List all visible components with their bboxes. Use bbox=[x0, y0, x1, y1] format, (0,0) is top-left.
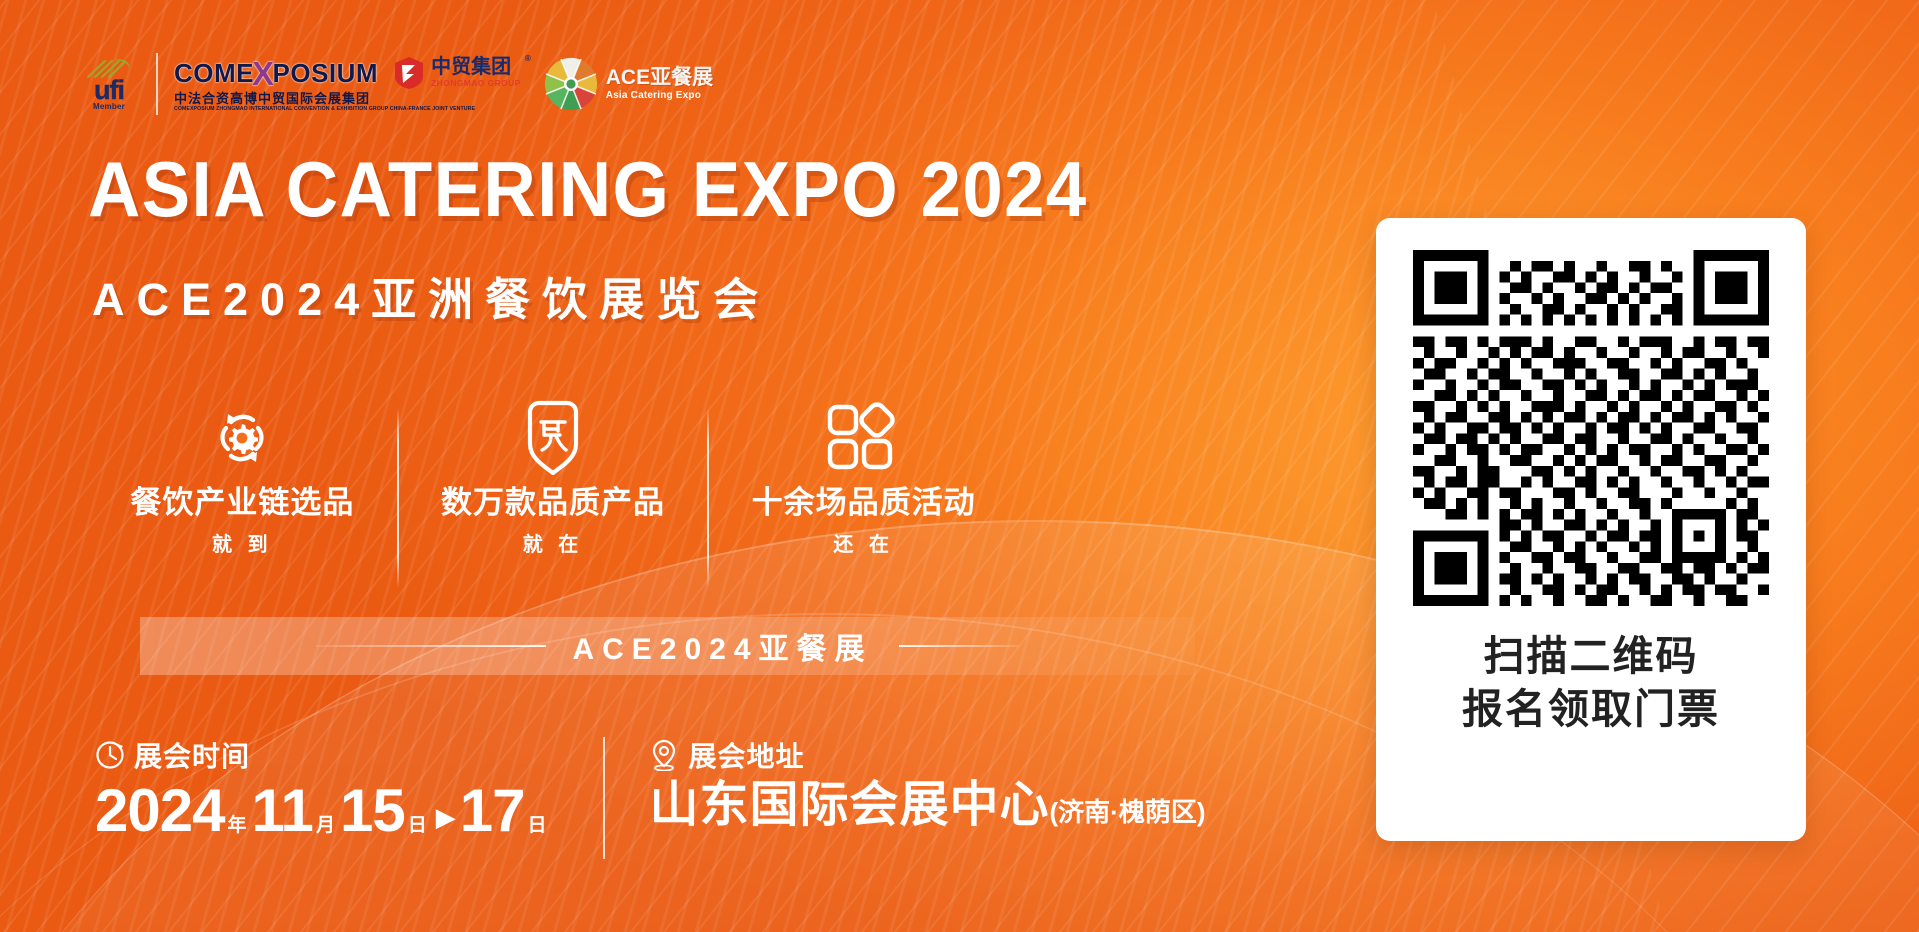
event-venue-value: 山东国际会展中心(济南·槐荫区) bbox=[649, 781, 1205, 830]
event-venue-label: 展会地址 bbox=[688, 735, 804, 775]
venue-name: 山东国际会展中心 bbox=[649, 778, 1049, 832]
comexposium-x-glyph: X bbox=[252, 57, 275, 90]
qr-card[interactable]: 扫描二维码 报名领取门票 bbox=[1376, 218, 1806, 841]
ufi-logo: ufi Member bbox=[78, 57, 140, 111]
ace-logo: ACE亚餐展 Asia Catering Expo bbox=[543, 56, 713, 112]
feature-subtitle: 还 在 bbox=[833, 528, 894, 557]
event-info: 展会时间 2024 年 11 月 15 日 ▶ 17 日 bbox=[95, 735, 1205, 859]
zhongmao-logo: 中贸集团 ® ZHONGMAO GROUP bbox=[392, 56, 521, 90]
comexposium-word-left: COME bbox=[174, 60, 254, 86]
comexposium-cn-subtitle: 中法合资高博中贸国际会展集团 bbox=[174, 92, 521, 106]
date-month-unit: 月 bbox=[316, 810, 335, 841]
date-range-arrow: ▶ bbox=[436, 802, 456, 833]
gear-cycle-icon bbox=[204, 400, 280, 476]
promo-banner: ufi Member COME X POSIUM 中贸 bbox=[0, 0, 1919, 932]
zhongmao-cn: 中贸集团 ® bbox=[431, 57, 521, 77]
quality-shield-icon bbox=[520, 400, 586, 476]
logo-divider bbox=[156, 53, 158, 115]
date-month: 11 bbox=[252, 781, 313, 841]
feature-item-quality-events: 十余场品质活动 还 在 bbox=[709, 400, 1018, 557]
date-day-start-unit: 日 bbox=[408, 810, 427, 841]
feature-title: 数万款品质产品 bbox=[441, 486, 665, 520]
feature-subtitle: 就 在 bbox=[523, 528, 584, 557]
qr-caption: 扫描二维码 报名领取门票 bbox=[1462, 630, 1720, 737]
info-divider bbox=[603, 737, 605, 859]
main-title-english: ASIA CATERING EXPO 2024 bbox=[88, 150, 1088, 228]
qr-caption-line2: 报名领取门票 bbox=[1462, 683, 1720, 736]
ace-logo-en: Asia Catering Expo bbox=[606, 91, 713, 101]
comexposium-word-right: POSIUM bbox=[273, 60, 379, 86]
date-year-unit: 年 bbox=[227, 810, 246, 841]
feature-title: 餐饮产业链选品 bbox=[130, 486, 354, 520]
feature-item-quality-products: 数万款品质产品 就 在 bbox=[399, 400, 708, 557]
event-venue-block: 展会地址 山东国际会展中心(济南·槐荫区) bbox=[649, 735, 1205, 830]
comexposium-row: COME X POSIUM 中贸集团 ® ZHONGMAO GROUP bbox=[174, 56, 521, 90]
comexposium-en-subtitle: COMEXPOSIUM ZHONGMAO INTERNATIONAL CONVE… bbox=[174, 107, 521, 112]
ufi-member-label: Member bbox=[93, 102, 125, 111]
event-date-header: 展会时间 bbox=[95, 735, 551, 775]
ace-logo-text: ACE亚餐展 Asia Catering Expo bbox=[606, 67, 713, 101]
tagline-strip: ACE2024亚餐展 bbox=[140, 617, 1195, 675]
feature-subtitle: 就 到 bbox=[212, 528, 273, 557]
event-date-label: 展会时间 bbox=[134, 735, 250, 775]
strip-text: ACE2024亚餐展 bbox=[572, 624, 872, 668]
venue-district: (济南·槐荫区) bbox=[1050, 797, 1206, 827]
qr-caption-line1: 扫描二维码 bbox=[1462, 630, 1720, 683]
strip-rule-right bbox=[899, 645, 1019, 647]
zhongmao-reg-mark: ® bbox=[525, 55, 531, 63]
four-blocks-icon bbox=[824, 400, 904, 476]
feature-item-supply-chain: 餐饮产业链选品 就 到 bbox=[88, 400, 397, 557]
feature-list: 餐饮产业链选品 就 到 数万款 bbox=[88, 400, 1018, 590]
zhongmao-cn-text: 中贸集团 bbox=[431, 56, 511, 78]
ace-logo-cn: ACE亚餐展 bbox=[606, 67, 713, 88]
date-day-end: 17 bbox=[460, 781, 525, 841]
logo-bar: ufi Member COME X POSIUM 中贸 bbox=[78, 46, 713, 122]
date-day-end-unit: 日 bbox=[527, 810, 546, 841]
event-venue-header: 展会地址 bbox=[649, 735, 1205, 775]
ace-pinwheel-icon bbox=[543, 56, 599, 112]
date-day-start: 15 bbox=[340, 781, 405, 841]
strip-rule-left bbox=[316, 645, 546, 647]
ufi-wordmark: ufi bbox=[94, 79, 124, 102]
event-date-value: 2024 年 11 月 15 日 ▶ 17 日 bbox=[95, 781, 551, 841]
feature-title: 十余场品质活动 bbox=[752, 486, 976, 520]
date-year: 2024 bbox=[95, 781, 224, 841]
zhongmao-mark-icon bbox=[392, 56, 426, 90]
comexposium-logo: COME X POSIUM 中贸集团 ® ZHONGMAO GROUP bbox=[174, 56, 521, 113]
main-title-chinese: ACE2024亚洲餐饮展览会 bbox=[92, 277, 770, 322]
clock-icon bbox=[95, 740, 125, 770]
qr-code-icon[interactable] bbox=[1413, 250, 1769, 606]
location-pin-icon bbox=[649, 739, 679, 771]
comexposium-wordmark: COME X POSIUM bbox=[174, 56, 378, 89]
event-date-block: 展会时间 2024 年 11 月 15 日 ▶ 17 日 bbox=[95, 735, 551, 841]
zhongmao-text: 中贸集团 ® ZHONGMAO GROUP bbox=[431, 57, 521, 88]
zhongmao-en: ZHONGMAO GROUP bbox=[431, 79, 521, 88]
